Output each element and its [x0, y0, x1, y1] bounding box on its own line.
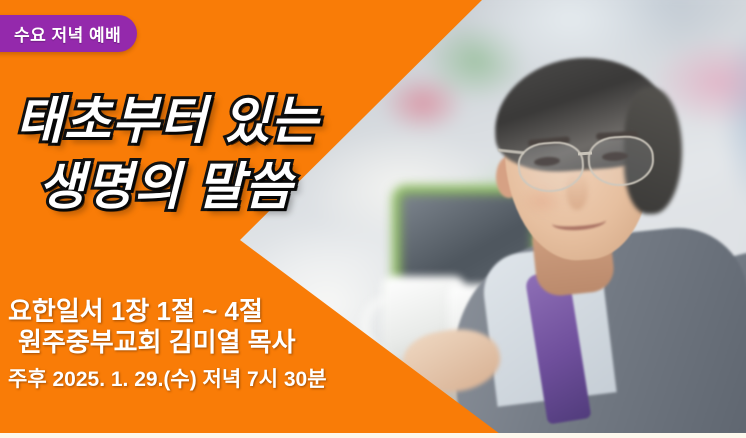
church-and-speaker: 원주중부교회 김미열 목사 — [18, 327, 428, 358]
sermon-details: 요한일서 1장 1절 ~ 4절 원주중부교회 김미열 목사 주후 2025. 1… — [8, 296, 428, 394]
sermon-title-line-1: 태초부터 있는 — [16, 88, 446, 154]
sermon-title: 태초부터 있는 생명의 말씀 — [16, 88, 446, 221]
service-type-badge-label: 수요 저녁 예배 — [14, 21, 121, 46]
scripture-reference: 요한일서 1장 1절 ~ 4절 — [8, 296, 428, 327]
service-type-badge: 수요 저녁 예배 — [0, 15, 137, 52]
sermon-poster: 수요 저녁 예배 태초부터 있는 생명의 말씀 요한일서 1장 1절 ~ 4절 … — [0, 0, 746, 438]
sermon-title-line-2: 생명의 말씀 — [38, 154, 446, 220]
bottom-accent-strip — [0, 433, 746, 438]
service-datetime: 주후 2025. 1. 29.(수) 저녁 7시 30분 — [8, 366, 428, 393]
